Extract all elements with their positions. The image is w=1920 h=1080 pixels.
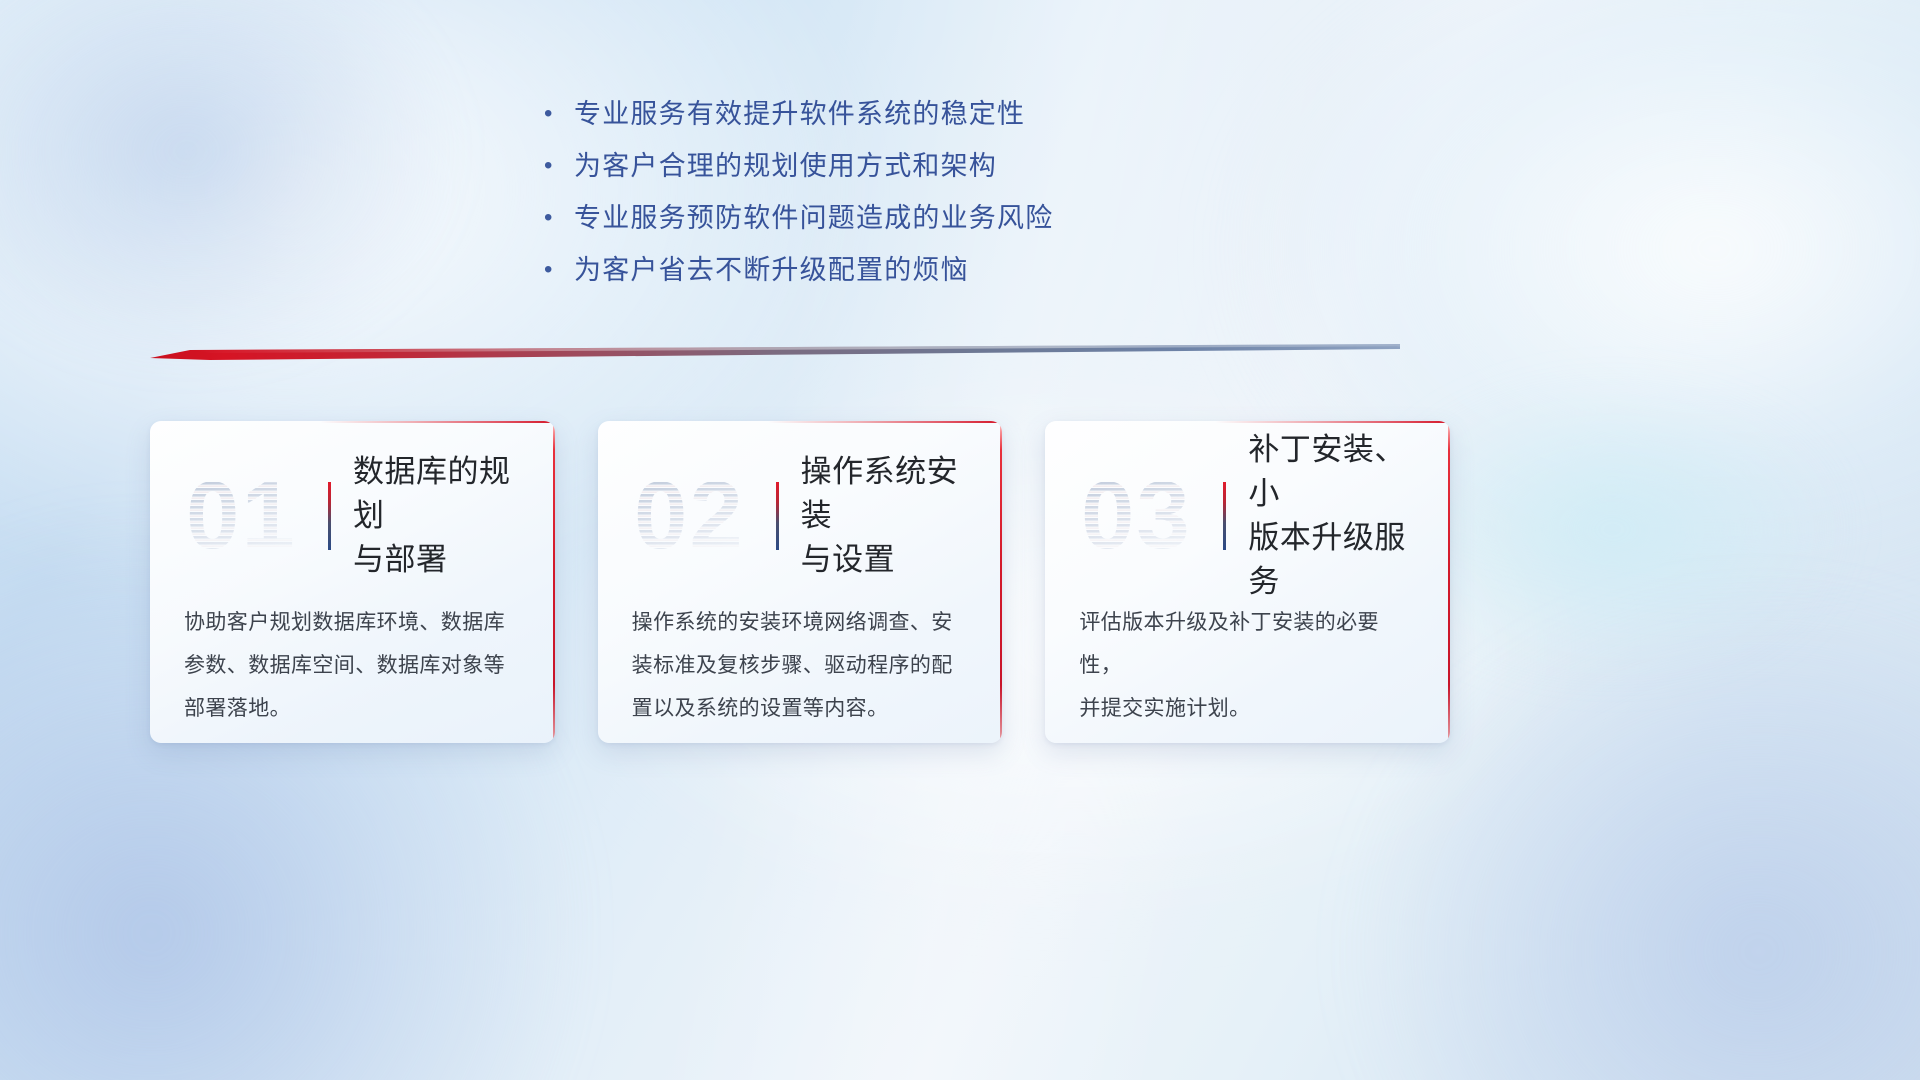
card-title: 补丁安装、小 版本升级服务 <box>1248 428 1416 604</box>
card-title-line: 补丁安装、小 <box>1248 428 1416 516</box>
card-title-rule <box>328 482 331 550</box>
card-description-line: 并提交实施计划。 <box>1079 687 1416 730</box>
list-item: • 为客户合理的规划使用方式和架构 <box>540 140 1300 192</box>
list-item: • 专业服务预防软件问题造成的业务风险 <box>540 192 1300 244</box>
card-header: 03 补丁安装、小 版本升级服务 <box>1079 461 1416 571</box>
divider-shape-icon <box>150 344 1400 366</box>
svg-text:02: 02 <box>634 464 745 568</box>
card-description: 协助客户规划数据库环境、数据库 参数、数据库空间、数据库对象等 部署落地。 <box>184 601 521 730</box>
bullet-dot-icon: • <box>540 88 574 140</box>
card-description-line: 协助客户规划数据库环境、数据库 <box>184 601 521 644</box>
service-card[interactable]: 02 操作系统安装 与设置 操作系统的安装环境网络调查、安 装标准及复核步骤、驱… <box>598 421 1003 743</box>
card-header: 02 操作系统安装 与设置 <box>632 461 969 571</box>
bullet-text: 为客户合理的规划使用方式和架构 <box>574 140 997 192</box>
svg-text:01: 01 <box>186 464 297 568</box>
card-title-line: 与设置 <box>801 538 969 582</box>
bullet-dot-icon: • <box>540 244 574 296</box>
svg-text:03: 03 <box>1081 464 1192 568</box>
section-divider <box>150 344 1400 366</box>
bullet-text: 专业服务预防软件问题造成的业务风险 <box>574 192 1053 244</box>
bullet-dot-icon: • <box>540 192 574 244</box>
card-description-line: 装标准及复核步骤、驱动程序的配 <box>632 644 969 687</box>
card-description-line: 部署落地。 <box>184 687 521 730</box>
service-card[interactable]: 01 数据库的规划 与部署 协助客户规划数据库环境、数据库 参数、数据库空间、数… <box>150 421 555 743</box>
card-description-line: 操作系统的安装环境网络调查、安 <box>632 601 969 644</box>
bullet-dot-icon: • <box>540 140 574 192</box>
card-description-line: 置以及系统的设置等内容。 <box>632 687 969 730</box>
card-description-line: 评估版本升级及补丁安装的必要性， <box>1079 601 1416 687</box>
service-card[interactable]: 03 补丁安装、小 版本升级服务 评估版本升级及补丁安装的必要性， 并提交实施计… <box>1045 421 1450 743</box>
card-number-watermark: 03 <box>1079 464 1217 568</box>
card-description: 操作系统的安装环境网络调查、安 装标准及复核步骤、驱动程序的配 置以及系统的设置… <box>632 601 969 730</box>
bullet-text: 为客户省去不断升级配置的烦恼 <box>574 244 969 296</box>
list-item: • 专业服务有效提升软件系统的稳定性 <box>540 88 1300 140</box>
card-description: 评估版本升级及补丁安装的必要性， 并提交实施计划。 <box>1079 601 1416 730</box>
card-title-line: 数据库的规划 <box>353 450 521 538</box>
card-number-watermark: 02 <box>632 464 770 568</box>
card-description-line: 参数、数据库空间、数据库对象等 <box>184 644 521 687</box>
benefits-bullet-list: • 专业服务有效提升软件系统的稳定性 • 为客户合理的规划使用方式和架构 • 专… <box>540 88 1300 296</box>
card-number-watermark: 01 <box>184 464 322 568</box>
card-title-line: 操作系统安装 <box>801 450 969 538</box>
card-title: 数据库的规划 与部署 <box>353 450 521 582</box>
bullet-text: 专业服务有效提升软件系统的稳定性 <box>574 88 1025 140</box>
card-title-line: 版本升级服务 <box>1248 516 1416 604</box>
list-item: • 为客户省去不断升级配置的烦恼 <box>540 244 1300 296</box>
card-title-line: 与部署 <box>353 538 521 582</box>
service-card-list: 01 数据库的规划 与部署 协助客户规划数据库环境、数据库 参数、数据库空间、数… <box>150 421 1450 743</box>
card-title: 操作系统安装 与设置 <box>801 450 969 582</box>
card-title-rule <box>776 482 779 550</box>
striped-number-icon: 03 <box>1079 464 1217 568</box>
striped-number-icon: 02 <box>632 464 770 568</box>
card-header: 01 数据库的规划 与部署 <box>184 461 521 571</box>
card-title-rule <box>1223 482 1226 550</box>
striped-number-icon: 01 <box>184 464 322 568</box>
